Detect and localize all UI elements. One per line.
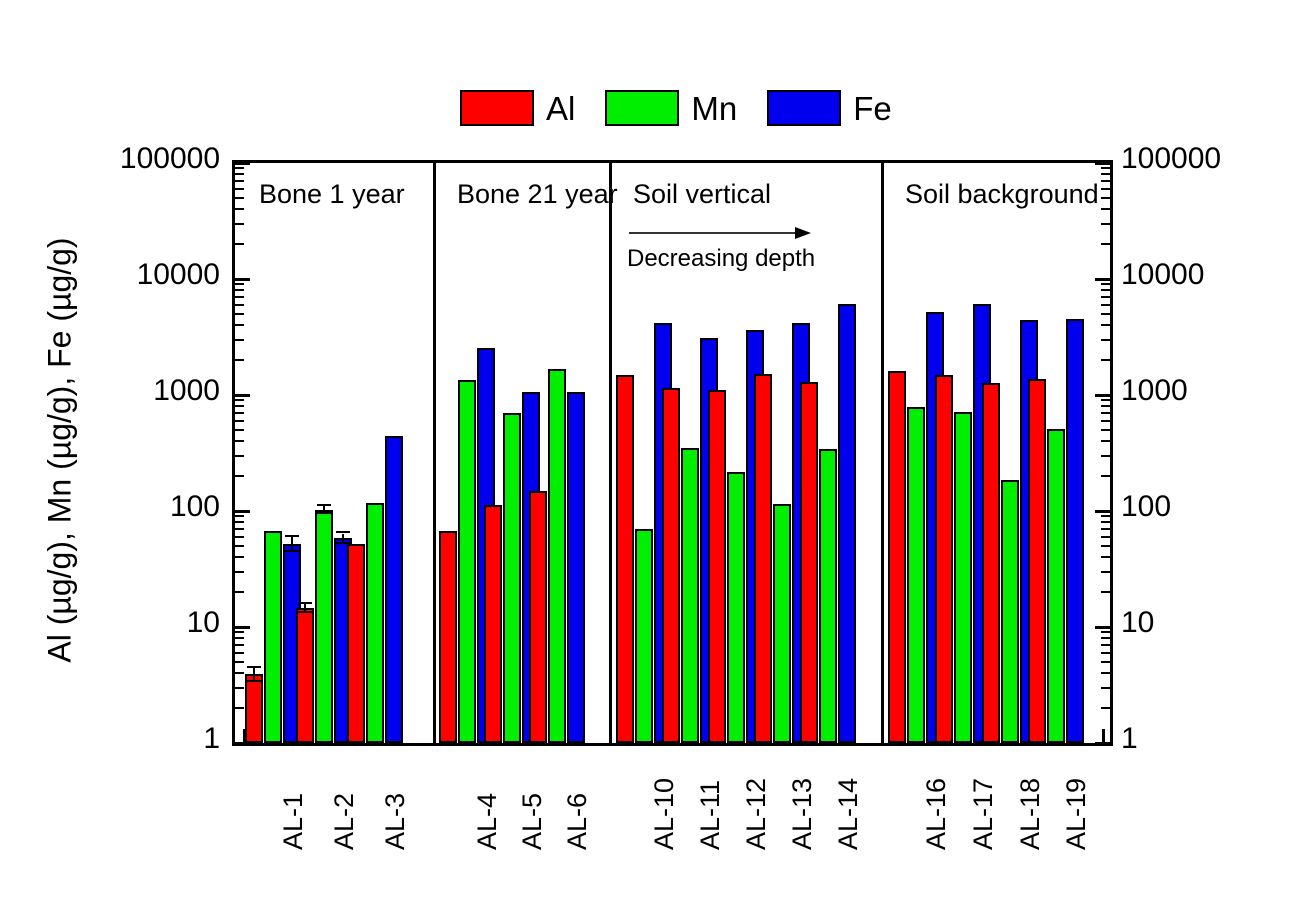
y-axis-left-label-10: 10 (187, 608, 220, 638)
bar-fe-AL-6[interactable] (567, 392, 585, 743)
y-tick-minor (1101, 289, 1110, 291)
y-tick-minor (1101, 521, 1110, 523)
y-tick-minor (235, 556, 244, 558)
y-axis-title: Al (µg/g), Mn (µg/g), Fe (µg/g) (42, 237, 79, 662)
bar-al-AL-5[interactable] (484, 505, 502, 743)
y-tick-minor (235, 283, 244, 285)
y-tick-minor (1101, 644, 1110, 646)
bar-al-AL-14[interactable] (800, 382, 818, 743)
bar-al-AL-17[interactable] (935, 375, 953, 743)
y-tick-minor (235, 223, 244, 225)
y-tick-minor (235, 644, 244, 646)
plot-area: Bone 1 yearBone 21 yearSoil verticalDecr… (232, 160, 1113, 746)
legend-entry-al[interactable]: Al (460, 90, 575, 126)
bar-al-AL-12[interactable] (708, 390, 726, 743)
y-tick-minor (235, 515, 244, 517)
y-tick-minor (235, 475, 244, 477)
bar-al-AL-18[interactable] (982, 383, 1000, 743)
y-tick-minor (1101, 173, 1110, 175)
y-tick-minor (1101, 591, 1110, 593)
y-tick-minor (1101, 412, 1110, 414)
y-tick-minor (1101, 188, 1110, 190)
bar-mn-AL-14[interactable] (819, 449, 837, 743)
x-axis-label-AL-13: AL-13 (789, 778, 816, 850)
y-axis-left-label-1000: 1000 (153, 376, 220, 406)
y-tick-minor (1101, 304, 1110, 306)
chart-figure: AlMnFe Al (µg/g), Mn (µg/g), Fe (µg/g) B… (0, 0, 1300, 908)
error-cap (285, 550, 299, 552)
y-tick-minor (1101, 571, 1110, 573)
legend-swatch-al (460, 90, 534, 126)
y-tick-minor (235, 637, 244, 639)
bar-mn-AL-18[interactable] (1001, 480, 1019, 743)
bar-al-AL-3[interactable] (347, 544, 365, 743)
y-tick-minor (235, 631, 244, 633)
y-tick-minor (235, 528, 244, 530)
y-tick-minor (1101, 296, 1110, 298)
y-tick-minor (1101, 661, 1110, 663)
y-tick-minor (1101, 637, 1110, 639)
y-tick-minor (235, 571, 244, 573)
legend-label-mn: Mn (691, 92, 737, 125)
y-tick-minor (235, 652, 244, 654)
y-tick-minor (1101, 359, 1110, 361)
x-axis-label-AL-18: AL-18 (1017, 778, 1044, 850)
bar-fe-AL-3[interactable] (385, 436, 403, 743)
y-tick-minor (1101, 687, 1110, 689)
y-tick-minor (1101, 440, 1110, 442)
bar-mn-AL-5[interactable] (503, 413, 521, 743)
y-tick-minor (1101, 243, 1110, 245)
bar-al-AL-6[interactable] (529, 491, 547, 743)
y-tick-minor (1101, 283, 1110, 285)
x-axis-label-AL-14: AL-14 (835, 778, 862, 850)
bar-al-AL-11[interactable] (662, 388, 680, 743)
y-tick-minor (235, 173, 244, 175)
y-tick-minor (1101, 208, 1110, 210)
panel-caption-2: Soil vertical (633, 181, 771, 208)
bar-al-AL-19[interactable] (1028, 379, 1046, 743)
panel-divider-2 (609, 163, 612, 743)
y-tick-minor (235, 359, 244, 361)
y-tick-minor (235, 339, 244, 341)
bar-mn-AL-19[interactable] (1047, 429, 1065, 743)
legend-entry-mn[interactable]: Mn (605, 90, 737, 126)
x-axis-label-AL-4: AL-4 (474, 793, 501, 850)
y-tick-minor (235, 304, 244, 306)
y-tick-minor (1101, 313, 1110, 315)
bar-mn-AL-12[interactable] (727, 472, 745, 743)
bar-mn-AL-17[interactable] (954, 412, 972, 743)
x-axis-label-AL-10: AL-10 (651, 778, 678, 850)
y-tick-minor (1101, 339, 1110, 341)
panel-subcaption-2: Decreasing depth (627, 247, 815, 271)
x-axis-label-AL-6: AL-6 (564, 793, 591, 850)
y-axis-left-label-100000: 100000 (120, 144, 220, 174)
error-cap (247, 680, 261, 682)
y-tick-minor (235, 591, 244, 593)
y-tick-minor (1101, 672, 1110, 674)
y-axis-right-label-100000: 100000 (1121, 144, 1221, 174)
y-tick-right-10 (1095, 626, 1110, 629)
panel-caption-1: Bone 21 year (457, 181, 618, 208)
y-axis-left-label-1: 1 (203, 724, 220, 754)
chart-legend: AlMnFe (460, 90, 892, 126)
y-tick-minor (235, 405, 244, 407)
y-tick-minor (1101, 631, 1110, 633)
y-tick-minor (1101, 197, 1110, 199)
y-tick-minor (235, 440, 244, 442)
x-axis-label-AL-1: AL-1 (280, 793, 307, 850)
y-tick-left-10 (235, 626, 250, 629)
x-axis-label-AL-3: AL-3 (382, 793, 409, 850)
y-tick-minor (1101, 180, 1110, 182)
x-tick-outer (1102, 729, 1105, 743)
y-tick-minor (235, 672, 244, 674)
y-axis-left-label-100: 100 (170, 492, 220, 522)
y-tick-minor (1101, 223, 1110, 225)
bar-mn-AL-1[interactable] (264, 531, 282, 743)
y-tick-minor (1101, 536, 1110, 538)
bar-mn-AL-10[interactable] (635, 529, 653, 743)
bar-al-AL-16[interactable] (888, 371, 906, 743)
x-axis-label-AL-12: AL-12 (743, 778, 770, 850)
y-tick-minor (235, 289, 244, 291)
y-tick-minor (235, 455, 244, 457)
y-tick-minor (235, 243, 244, 245)
y-axis-right-label-100: 100 (1121, 492, 1171, 522)
y-tick-minor (235, 324, 244, 326)
x-axis-label-AL-19: AL-19 (1063, 778, 1090, 850)
y-tick-minor (235, 208, 244, 210)
bar-al-AL-1[interactable] (245, 674, 263, 743)
y-tick-minor (1101, 429, 1110, 431)
bar-al-AL-10[interactable] (616, 375, 634, 743)
y-tick-minor (1101, 652, 1110, 654)
y-tick-minor (1101, 405, 1110, 407)
y-tick-minor (235, 661, 244, 663)
error-cap (336, 531, 350, 533)
y-tick-right-100 (1095, 510, 1110, 513)
bar-mn-AL-16[interactable] (907, 407, 925, 743)
y-tick-minor (1101, 515, 1110, 517)
y-tick-minor (235, 545, 244, 547)
legend-swatch-mn (605, 90, 679, 126)
bar-mn-AL-11[interactable] (681, 448, 699, 743)
legend-entry-fe[interactable]: Fe (767, 90, 892, 126)
bar-mn-AL-4[interactable] (458, 380, 476, 743)
legend-swatch-fe (767, 90, 841, 126)
y-tick-minor (1101, 707, 1110, 709)
y-tick-left-10000 (235, 278, 250, 281)
y-tick-minor (235, 707, 244, 709)
y-axis-right-label-10000: 10000 (1121, 260, 1204, 290)
panel-divider-1 (433, 163, 436, 743)
y-tick-minor (1101, 167, 1110, 169)
y-tick-minor (235, 313, 244, 315)
y-tick-minor (235, 420, 244, 422)
y-tick-minor (235, 296, 244, 298)
panel-caption-3: Soil background (905, 181, 1099, 208)
x-axis-label-AL-16: AL-16 (923, 778, 950, 850)
y-tick-left-100000 (235, 162, 250, 165)
legend-label-al: Al (546, 92, 575, 125)
y-tick-right-100000 (1095, 162, 1110, 165)
y-tick-minor (235, 521, 244, 523)
y-tick-minor (1101, 545, 1110, 547)
error-cap (285, 535, 299, 537)
y-axis-right-label-1: 1 (1121, 724, 1138, 754)
y-tick-left-1000 (235, 394, 250, 397)
y-tick-minor (235, 412, 244, 414)
y-tick-minor (235, 399, 244, 401)
y-tick-minor (1101, 420, 1110, 422)
bar-fe-AL-14[interactable] (838, 304, 856, 743)
y-tick-minor (235, 429, 244, 431)
error-cap (298, 611, 312, 613)
y-tick-left-100 (235, 510, 250, 513)
error-cap (317, 512, 331, 514)
bar-mn-AL-3[interactable] (366, 503, 384, 743)
bar-al-AL-13[interactable] (754, 374, 772, 743)
error-cap (247, 666, 261, 668)
error-cap (317, 504, 331, 506)
x-axis-label-AL-2: AL-2 (331, 793, 358, 850)
y-tick-minor (235, 180, 244, 182)
bar-fe-AL-19[interactable] (1066, 319, 1084, 743)
y-axis-left-label-10000: 10000 (137, 260, 220, 290)
x-axis-label-AL-17: AL-17 (970, 778, 997, 850)
y-tick-minor (235, 197, 244, 199)
y-tick-minor (235, 188, 244, 190)
y-axis-right-label-10: 10 (1121, 608, 1154, 638)
y-tick-minor (1101, 475, 1110, 477)
y-tick-minor (1101, 455, 1110, 457)
y-tick-minor (1101, 556, 1110, 558)
legend-label-fe: Fe (853, 92, 892, 125)
panel-divider-3 (881, 163, 884, 743)
y-tick-minor (1101, 528, 1110, 530)
y-tick-right-1000 (1095, 394, 1110, 397)
bar-mn-AL-2[interactable] (315, 510, 333, 743)
y-tick-minor (235, 167, 244, 169)
decreasing-depth-arrow-icon (629, 225, 811, 241)
panel-caption-0: Bone 1 year (259, 181, 405, 208)
bar-mn-AL-13[interactable] (773, 504, 791, 743)
y-tick-minor (235, 536, 244, 538)
bar-al-AL-4[interactable] (439, 531, 457, 743)
bar-al-AL-2[interactable] (296, 608, 314, 743)
y-axis-right-label-1000: 1000 (1121, 376, 1188, 406)
y-tick-minor (1101, 324, 1110, 326)
bar-mn-AL-6[interactable] (548, 369, 566, 743)
x-axis-label-AL-11: AL-11 (697, 780, 724, 850)
y-tick-minor (235, 687, 244, 689)
y-tick-minor (1101, 399, 1110, 401)
error-cap (298, 602, 312, 604)
x-axis-label-AL-5: AL-5 (519, 793, 546, 850)
y-tick-right-10000 (1095, 278, 1110, 281)
